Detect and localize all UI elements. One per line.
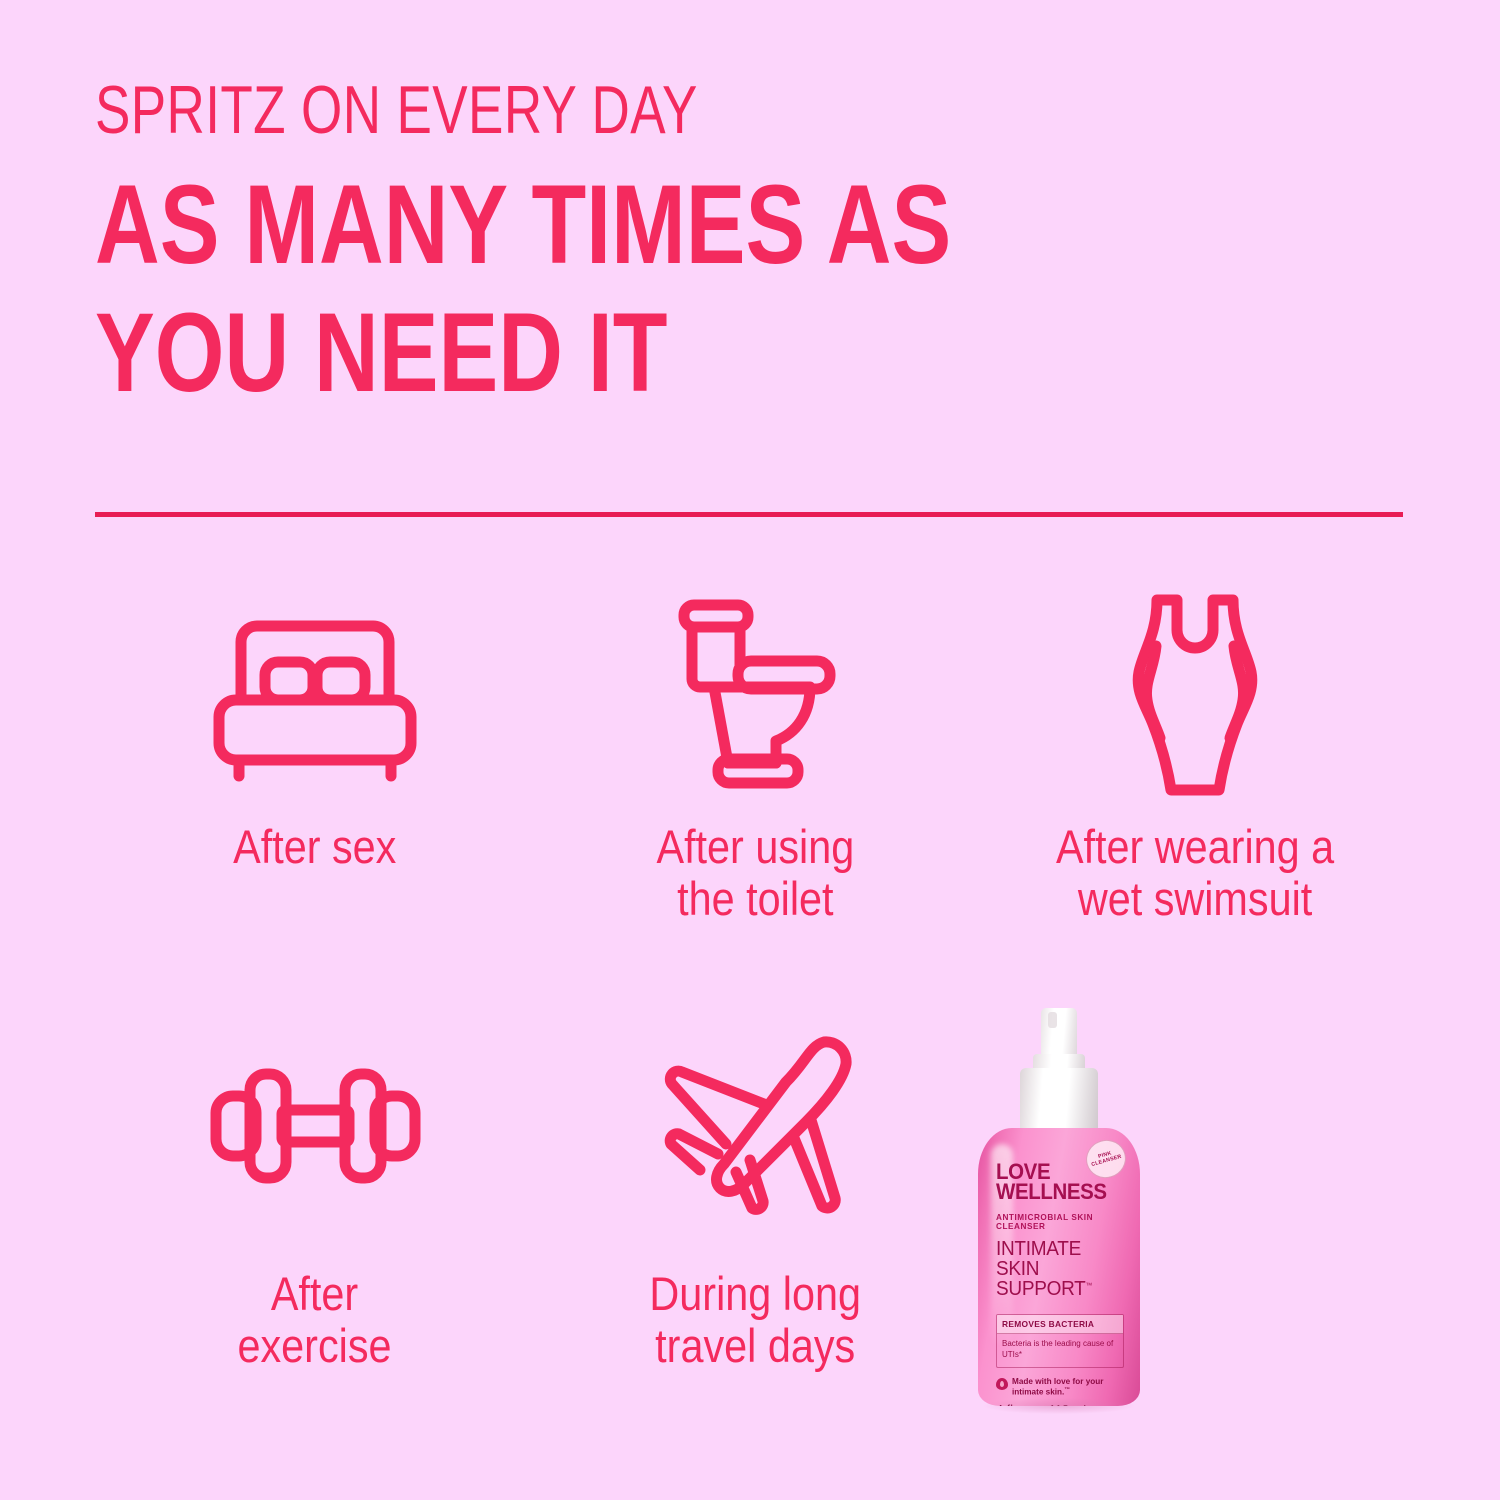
bed-icon <box>205 575 425 815</box>
horizontal-divider <box>95 512 1403 517</box>
product-category: ANTIMICROBIAL SKIN CLEANSER <box>996 1213 1124 1231</box>
bottle-body: PINK CLEANSER LOVE WELLNESS ANTIMICROBIA… <box>978 1128 1140 1406</box>
love-note: Made with love for your intimate skin.™ <box>996 1377 1124 1398</box>
bottle-shadow <box>984 1398 1134 1414</box>
use-case-after-toilet: After using the toilet <box>535 575 975 1000</box>
dumbbell-icon <box>208 1000 423 1250</box>
spray-bottle: PINK CLEANSER LOVE WELLNESS ANTIMICROBIA… <box>975 1008 1143 1408</box>
brand-name: LOVE WELLNESS <box>996 1162 1115 1202</box>
product-name: INTIMATE SKIN SUPPORT™ <box>996 1239 1118 1299</box>
love-note-text: Made with love for your intimate skin.™ <box>1012 1377 1124 1398</box>
headline-line-2: YOU NEED IT <box>95 289 1151 417</box>
use-case-label: After sex <box>233 821 396 873</box>
bottle-label: LOVE WELLNESS ANTIMICROBIAL SKIN CLEANSE… <box>978 1128 1140 1406</box>
claim-heading: REMOVES BACTERIA <box>997 1315 1123 1334</box>
eyebrow-text: SPRITZ ON EVERY DAY <box>95 78 1125 143</box>
use-case-label: During long travel days <box>649 1268 861 1371</box>
use-case-label: After wearing a wet swimsuit <box>1056 821 1334 924</box>
use-case-label: After exercise <box>238 1268 392 1371</box>
heart-icon <box>996 1378 1008 1390</box>
claim-body: Bacteria is the leading cause of UTIs* <box>997 1334 1123 1366</box>
airplane-icon <box>648 1000 863 1250</box>
page-title: AS MANY TIMES AS YOU NEED IT <box>95 161 1151 416</box>
use-case-grid: After sex After using the toilet <box>95 575 1415 1425</box>
brand-line-2: WELLNESS <box>996 1182 1115 1202</box>
swimsuit-icon <box>1110 575 1280 815</box>
use-case-after-exercise: After exercise <box>95 1000 535 1425</box>
headline-line-1: AS MANY TIMES AS <box>95 161 1151 289</box>
bottle-cap <box>1020 1068 1098 1136</box>
sprayer-nozzle-icon <box>1041 1008 1077 1060</box>
use-case-travel: During long travel days <box>535 1000 975 1425</box>
toilet-icon <box>660 575 850 815</box>
trademark-symbol: ™ <box>1086 1283 1092 1290</box>
product-name-line-1: INTIMATE SKIN <box>996 1239 1118 1279</box>
use-case-after-sex: After sex <box>95 575 535 1000</box>
product-image: PINK CLEANSER LOVE WELLNESS ANTIMICROBIA… <box>975 1000 1415 1425</box>
header-block: SPRITZ ON EVERY DAY AS MANY TIMES AS YOU… <box>95 78 1415 417</box>
claim-box: REMOVES BACTERIA Bacteria is the leading… <box>996 1314 1124 1367</box>
product-name-line-2: SUPPORT™ <box>996 1279 1118 1299</box>
use-case-label: After using the toilet <box>656 821 854 924</box>
use-case-after-swimsuit: After wearing a wet swimsuit <box>975 575 1415 1000</box>
